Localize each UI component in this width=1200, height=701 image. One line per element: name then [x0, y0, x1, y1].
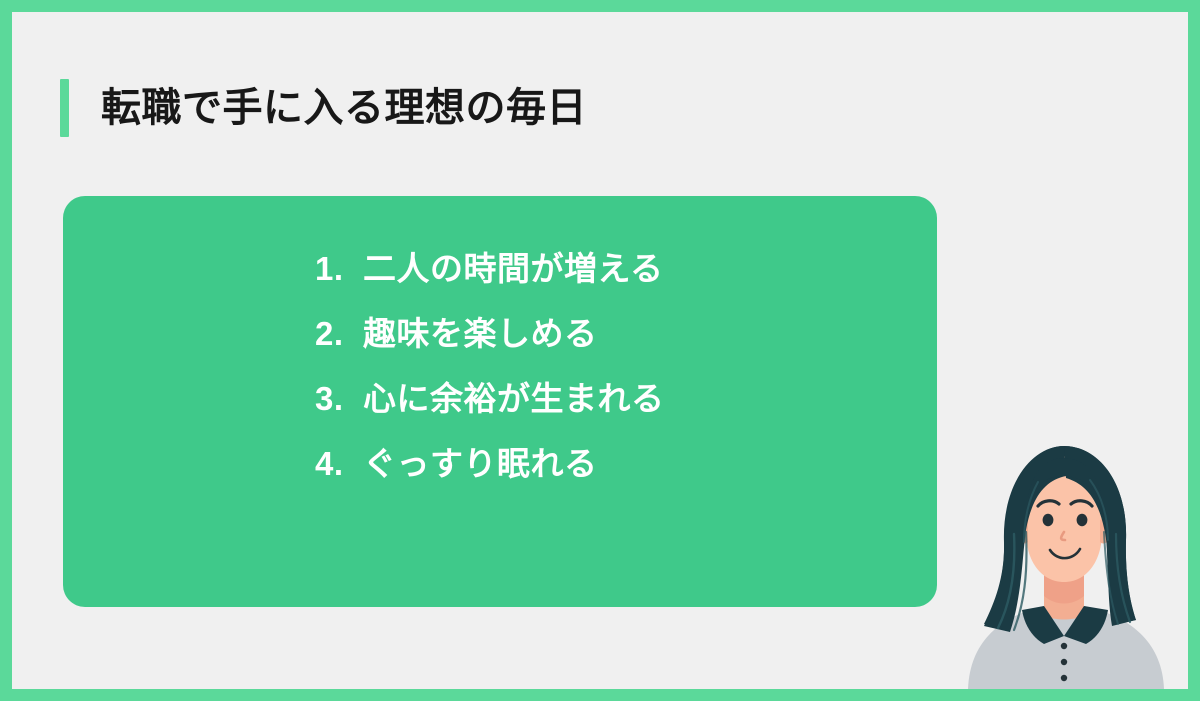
list-item-number: 2.	[315, 315, 363, 354]
list-item-number: 3.	[315, 380, 363, 419]
list-item: 2. 趣味を楽しめる	[315, 315, 665, 354]
title-accent-bar	[60, 79, 69, 137]
list-item-label: 二人の時間が増える	[363, 250, 664, 289]
slide-content: 転職で手に入る理想の毎日 1. 二人の時間が増える 2. 趣味を楽しめる 3. …	[12, 12, 1188, 689]
benefits-card: 1. 二人の時間が増える 2. 趣味を楽しめる 3. 心に余裕が生まれる 4. …	[63, 196, 937, 607]
page-title: 転職で手に入る理想の毎日	[101, 88, 587, 128]
list-item: 3. 心に余裕が生まれる	[315, 380, 665, 419]
list-item: 1. 二人の時間が増える	[315, 250, 665, 289]
list-item-number: 1.	[315, 250, 363, 289]
list-item-label: ぐっすり眠れる	[363, 445, 598, 484]
list-item: 4. ぐっすり眠れる	[315, 445, 665, 484]
slide-title-row: 転職で手に入る理想の毎日	[60, 72, 587, 144]
list-item-label: 心に余裕が生まれる	[363, 380, 665, 419]
benefits-list: 1. 二人の時間が増える 2. 趣味を楽しめる 3. 心に余裕が生まれる 4. …	[315, 250, 665, 484]
woman-portrait-illustration	[940, 424, 1188, 689]
list-item-label: 趣味を楽しめる	[363, 315, 598, 354]
list-item-number: 4.	[315, 445, 363, 484]
slide-frame: 転職で手に入る理想の毎日 1. 二人の時間が増える 2. 趣味を楽しめる 3. …	[0, 0, 1200, 701]
